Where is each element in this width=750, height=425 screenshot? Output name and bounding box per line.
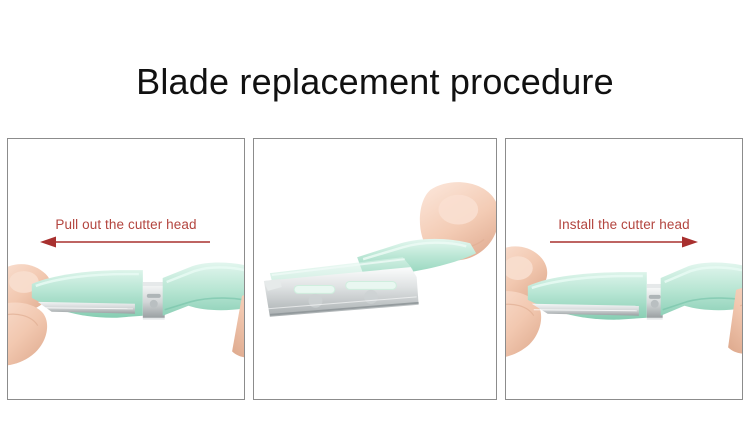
panel-blade-detail xyxy=(253,138,497,400)
panel-pull-out-the-cutter-head: Pull out the cutter head xyxy=(7,138,245,400)
panel-2-photo xyxy=(254,181,496,381)
page-title: Blade replacement procedure xyxy=(0,60,750,104)
cutter-handle xyxy=(163,263,244,316)
cutter-head-piece xyxy=(32,270,143,318)
panel-1-photo xyxy=(8,219,244,399)
blade-mount xyxy=(143,282,165,320)
panel-install-the-cutter-head: Install the cutter head xyxy=(505,138,743,400)
blade-mount xyxy=(647,284,663,320)
procedure-panel-strip: Pull out the cutter head xyxy=(7,138,743,400)
cutter-handle xyxy=(661,263,742,316)
panel-3-photo xyxy=(506,219,742,399)
